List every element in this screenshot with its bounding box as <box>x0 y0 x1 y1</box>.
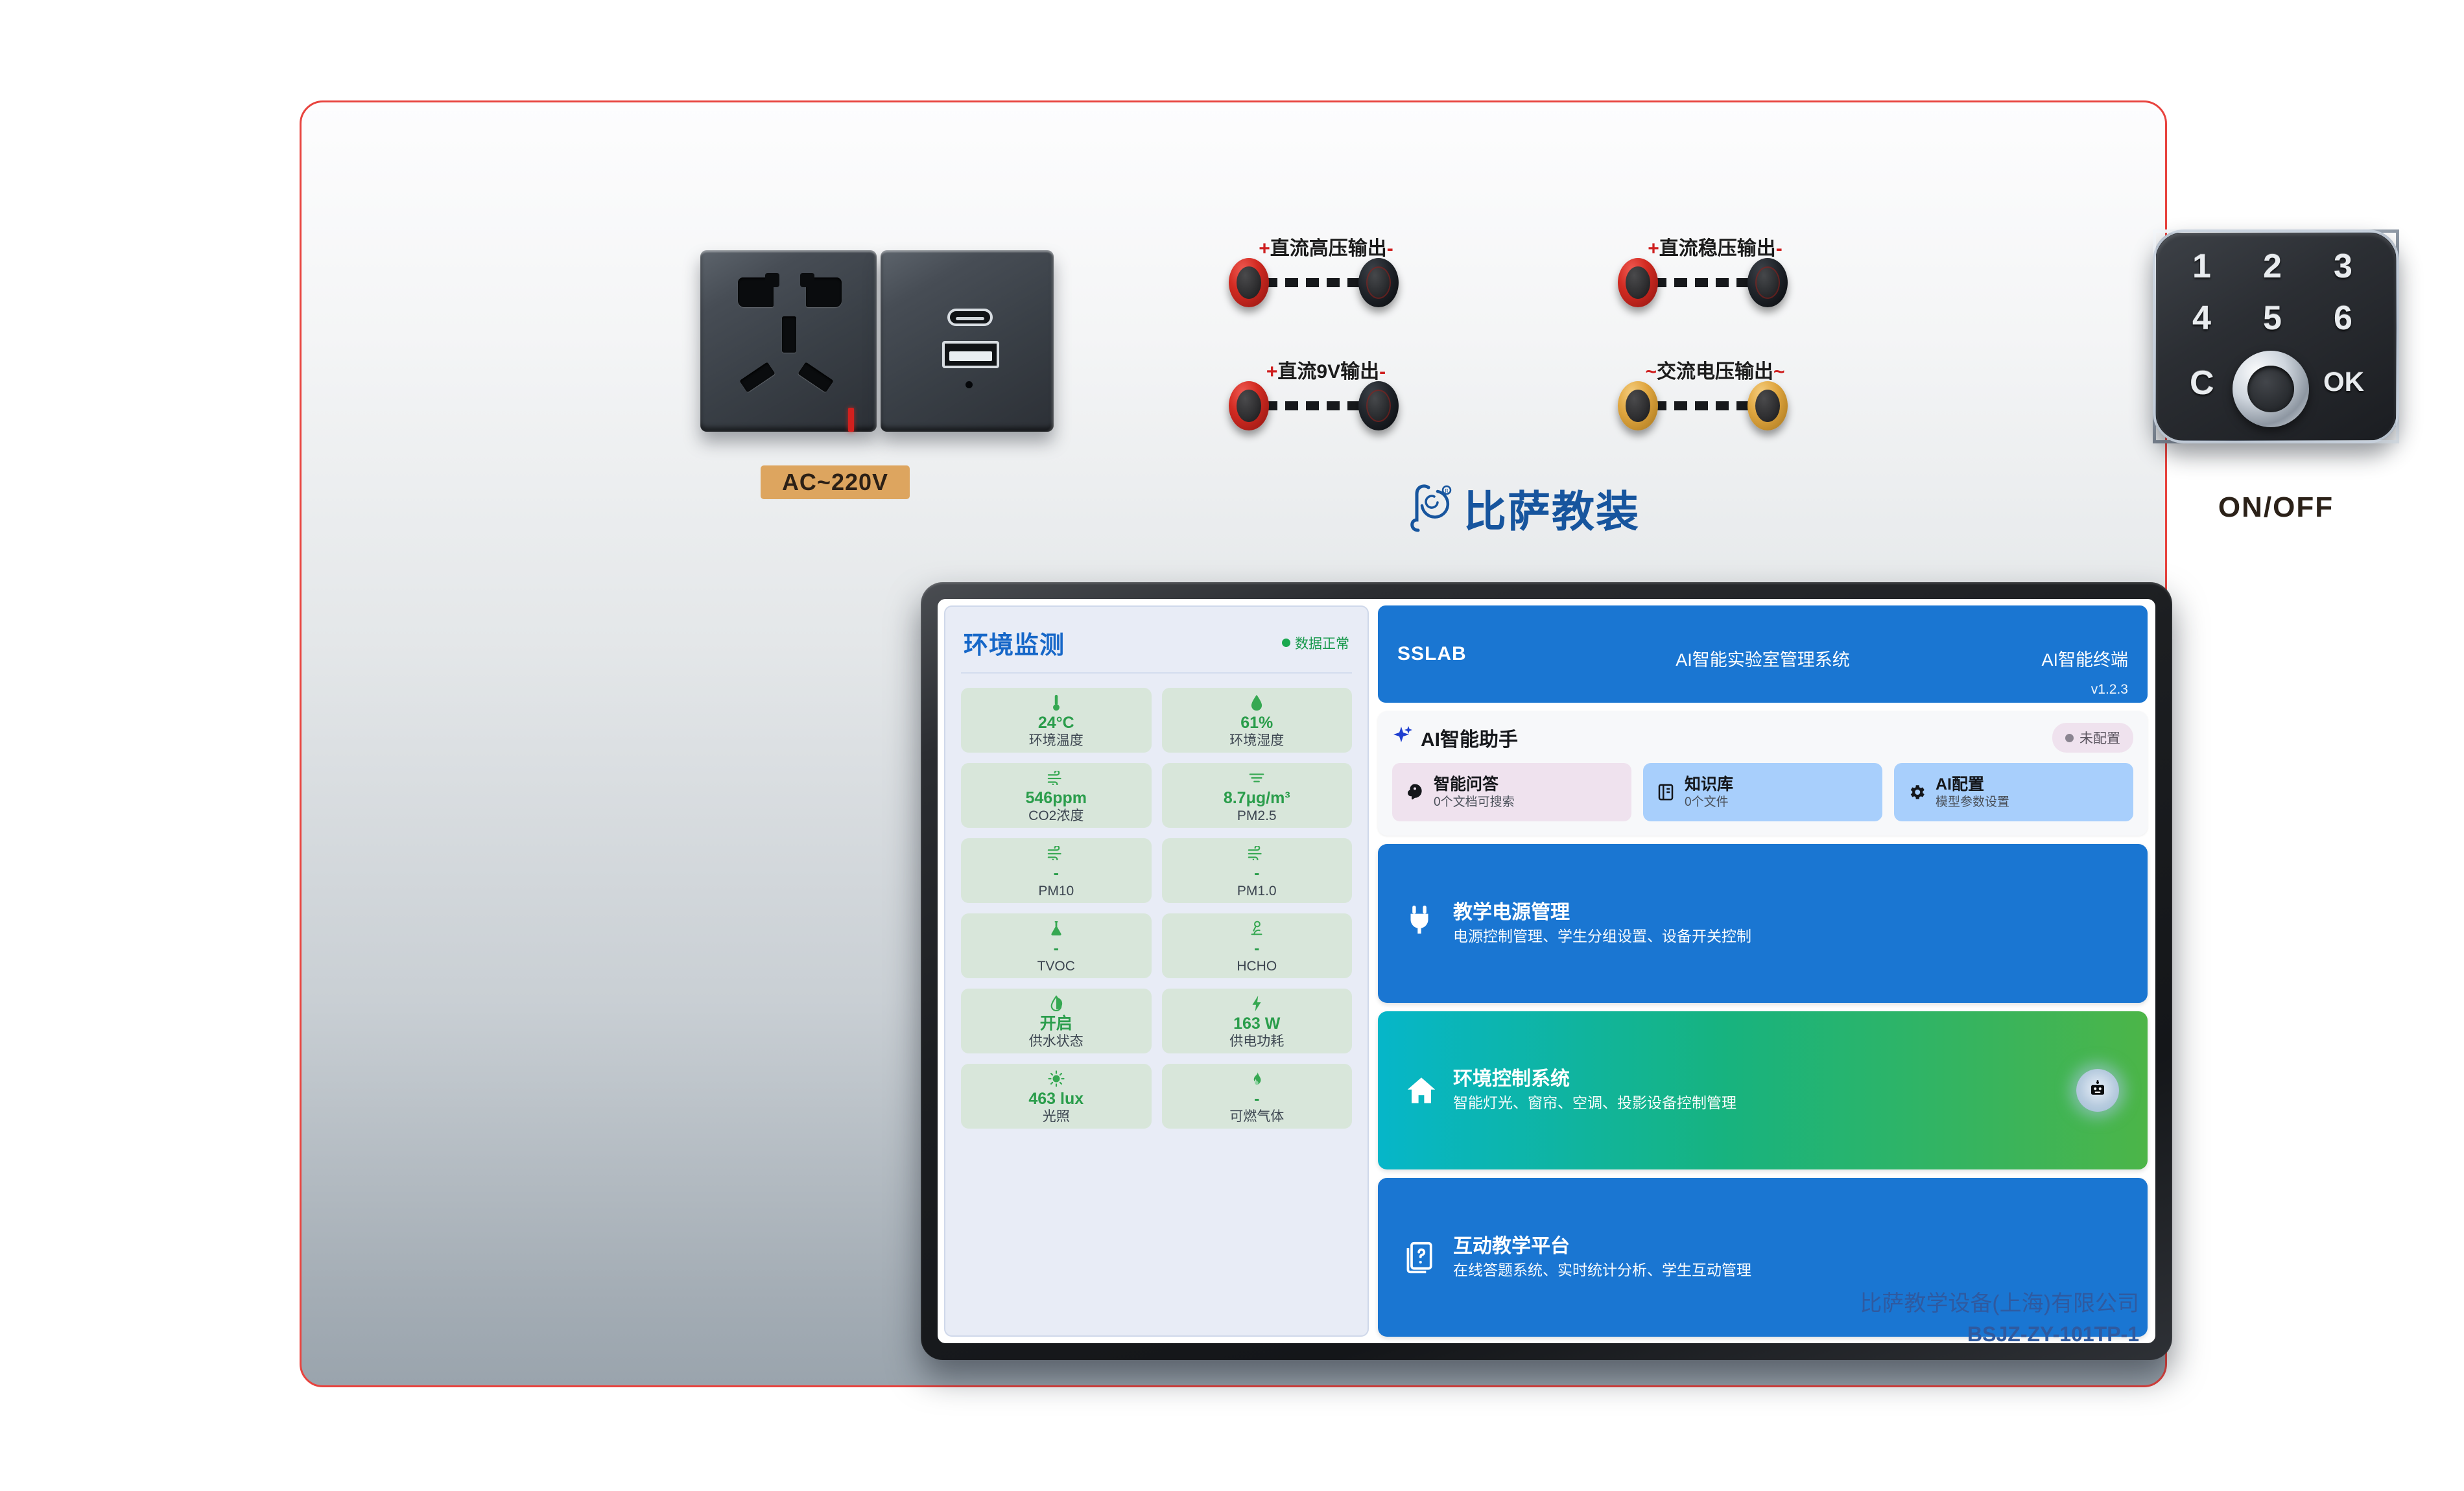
flame-icon <box>1250 1069 1264 1088</box>
quiz-icon <box>1405 1241 1447 1274</box>
tablet-screen: 环境监测 数据正常 24°C环境温度61%环境湿度546ppmCO2浓度8.7μ… <box>938 599 2155 1343</box>
usb-c-port-icon <box>947 309 993 326</box>
book-icon <box>1656 782 1676 802</box>
terminal-label: +直流9V输出- <box>1266 355 1386 384</box>
robot-icon <box>2088 1079 2107 1102</box>
sensor-card[interactable]: 546ppmCO2浓度 <box>961 763 1152 828</box>
ai-config-status-text: 未配置 <box>2079 728 2120 747</box>
usb-a-port-icon <box>942 341 999 368</box>
socket-power-led <box>848 408 854 432</box>
sensor-card[interactable]: 8.7μg/m³PM2.5 <box>1162 763 1353 828</box>
ai-tile-sub: 0个文档可搜索 <box>1434 795 1515 810</box>
terminal-link-bar <box>1653 278 1754 287</box>
sensor-label: 环境湿度 <box>1229 734 1284 747</box>
socket-slot-right <box>806 277 842 307</box>
ai-assistant-title: AI智能助手 <box>1421 723 1518 752</box>
sensor-value: 163 W <box>1233 1016 1280 1032</box>
keypad-key-5[interactable]: 5 <box>2263 299 2282 338</box>
sensor-card[interactable]: -HCHO <box>1162 913 1353 978</box>
sensor-grid: 24°C环境温度61%环境湿度546ppmCO2浓度8.7μg/m³PM2.5-… <box>961 674 1352 1129</box>
ai-tile-ai-config[interactable]: AI配置 模型参数设置 <box>1894 763 2133 821</box>
ai-assistant-header: AI智能助手 未配置 <box>1392 723 2133 753</box>
svg-text:R: R <box>1445 488 1449 494</box>
sensor-label: 光照 <box>1043 1110 1070 1123</box>
status-dot-icon <box>1282 639 1290 647</box>
ai-tile-knowledge-base[interactable]: 知识库 0个文件 <box>1643 763 1882 821</box>
footer-company: 比萨教学设备(上海)有限公司 <box>1860 1286 2139 1317</box>
sensor-value: 463 lux <box>1028 1091 1084 1107</box>
droplet-icon <box>1250 693 1264 712</box>
module-sub: 智能灯光、窗帘、空调、投影设备控制管理 <box>1453 1092 1736 1114</box>
keypad-key-1[interactable]: 1 <box>2192 247 2211 286</box>
sensor-value: - <box>1054 865 1059 882</box>
sensor-card[interactable]: 61%环境湿度 <box>1162 688 1353 753</box>
keypad-key-3[interactable]: 3 <box>2334 247 2352 286</box>
app-version: v1.2.3 <box>2091 682 2128 698</box>
sensor-card[interactable]: 463 lux光照 <box>961 1064 1152 1129</box>
ai-tile-title: AI配置 <box>1936 775 2009 795</box>
pisa-logo-icon: R <box>1404 482 1454 534</box>
wind-icon <box>1047 768 1065 788</box>
sensor-card[interactable]: -PM10 <box>961 838 1152 903</box>
sensor-value: 8.7μg/m³ <box>1224 790 1290 806</box>
keypad-key-ok[interactable]: OK <box>2323 366 2364 397</box>
ai-tile-sub: 模型参数设置 <box>1936 795 2009 810</box>
sensor-card[interactable]: -TVOC <box>961 913 1152 978</box>
ai-tile-title: 知识库 <box>1685 775 1733 795</box>
sensor-card[interactable]: -PM1.0 <box>1162 838 1353 903</box>
sensor-value: 546ppm <box>1026 790 1087 806</box>
sensor-card[interactable]: -可燃气体 <box>1162 1064 1353 1129</box>
usb-indicator-led <box>965 381 973 388</box>
socket-slot-diag-right <box>798 362 833 392</box>
sensor-value: - <box>1254 865 1259 882</box>
sensor-label: PM1.0 <box>1237 884 1277 898</box>
microscope-icon <box>1249 919 1264 938</box>
sensor-value: 开启 <box>1040 1016 1072 1032</box>
sensor-card[interactable]: 24°C环境温度 <box>961 688 1152 753</box>
sensor-label: 可燃气体 <box>1229 1110 1284 1123</box>
sensor-value: - <box>1054 941 1059 957</box>
sensor-card[interactable]: 163 W供电功耗 <box>1162 989 1353 1053</box>
keypad-key-4[interactable]: 4 <box>2192 299 2211 338</box>
flask-icon <box>1049 919 1063 938</box>
terminal-label: +直流稳压输出- <box>1648 232 1783 261</box>
environment-status-text: 数据正常 <box>1295 633 1349 653</box>
thermometer-icon <box>1049 693 1063 712</box>
environment-status-badge: 数据正常 <box>1282 633 1349 653</box>
sensor-value: 61% <box>1240 715 1273 731</box>
bolt-icon <box>1250 994 1263 1013</box>
ai-tile-sub: 0个文件 <box>1685 795 1733 810</box>
terminal-link-bar <box>1264 401 1365 410</box>
jack-negative[interactable] <box>1747 258 1788 307</box>
keypad-key-clear[interactable]: C <box>2190 364 2214 403</box>
plug-icon <box>1405 906 1447 941</box>
keypad-key-6[interactable]: 6 <box>2334 299 2352 338</box>
brand-logo-text: 比萨教装 <box>1463 477 1640 539</box>
module-sub: 电源控制管理、学生分组设置、设备开关控制 <box>1453 925 1751 948</box>
app-system-title: AI智能实验室管理系统 <box>1676 646 1850 671</box>
terminal-link-bar <box>1264 278 1365 287</box>
ai-assistant-card: AI智能助手 未配置 智能问答 <box>1378 711 2148 836</box>
socket-slot-diag-left <box>739 362 775 392</box>
footer: 比萨教学设备(上海)有限公司 BSJZ-ZY-101TP-1 <box>1860 1286 2139 1346</box>
brand-logo: R 比萨教装 <box>1404 477 1640 539</box>
sensor-label: CO2浓度 <box>1028 809 1084 823</box>
app-main-panel: SSLAB AI智能实验室管理系统 AI智能终端 v1.2.3 AI智能助手 <box>1369 599 2155 1343</box>
jack-positive[interactable] <box>1229 258 1269 307</box>
terminal-label: +直流高压输出- <box>1259 232 1393 261</box>
socket-slot-center <box>782 316 796 353</box>
sensor-value: 24°C <box>1038 715 1074 731</box>
module-card-environment-control[interactable]: 环境控制系统 智能灯光、窗帘、空调、投影设备控制管理 <box>1378 1011 2148 1170</box>
onoff-label: ON/OFF <box>2153 491 2399 524</box>
sensor-value: - <box>1254 1091 1259 1107</box>
module-card-power-management[interactable]: 教学电源管理 电源控制管理、学生分组设置、设备开关控制 <box>1378 844 2148 1003</box>
keypad-dial-knob[interactable] <box>2233 351 2309 427</box>
socket-slot-left <box>738 277 774 307</box>
jack-negative[interactable] <box>1358 381 1399 430</box>
terminal-label: ~交流电压输出~ <box>1645 355 1784 384</box>
ai-tiles: 智能问答 0个文档可搜索 知识库 0个文件 <box>1392 763 2133 821</box>
ai-config-status-badge: 未配置 <box>2052 723 2133 753</box>
sun-icon <box>1048 1069 1065 1088</box>
terminal-link-bar <box>1653 401 1754 410</box>
home-icon <box>1405 1074 1447 1107</box>
keypad[interactable]: 1 2 3 4 5 6 C OK <box>2153 229 2399 443</box>
sensor-label: PM2.5 <box>1237 809 1277 823</box>
app-header: SSLAB AI智能实验室管理系统 AI智能终端 v1.2.3 <box>1378 605 2148 703</box>
brain-icon <box>1405 782 1425 802</box>
power-socket-group <box>700 250 1054 432</box>
environment-title: 环境监测 <box>964 625 1065 661</box>
equipment-panel: AC~220V +直流高压输出- +直流稳压输出- +直流9V输出- ~交流电压… <box>300 100 2167 1387</box>
app-brand: SSLAB <box>1397 643 1467 665</box>
sensor-label: 环境温度 <box>1029 734 1084 747</box>
sensor-label: PM10 <box>1038 884 1074 898</box>
usb-socket[interactable] <box>881 250 1054 432</box>
app-terminal-name: AI智能终端 <box>2041 646 2128 671</box>
module-title: 互动教学平台 <box>1453 1234 1751 1259</box>
jack-positive[interactable] <box>1618 258 1658 307</box>
jack-ac-left[interactable] <box>1618 381 1658 430</box>
ai-assistant-title-group: AI智能助手 <box>1392 723 1518 752</box>
water-drop-icon <box>1049 994 1063 1013</box>
module-title: 环境控制系统 <box>1453 1066 1736 1092</box>
keypad-key-2[interactable]: 2 <box>2263 247 2282 286</box>
sensor-label: 供电功耗 <box>1229 1035 1284 1048</box>
status-dot-icon <box>2065 734 2074 742</box>
module-sub: 在线答题系统、实时统计分析、学生互动管理 <box>1453 1259 1751 1282</box>
sensor-label: 供水状态 <box>1029 1035 1084 1048</box>
footer-model: BSJZ-ZY-101TP-1 <box>1860 1322 2139 1346</box>
module-title: 教学电源管理 <box>1453 900 1751 925</box>
environment-monitor-panel: 环境监测 数据正常 24°C环境温度61%环境湿度546ppmCO2浓度8.7μ… <box>944 605 1369 1337</box>
ai-tile-title: 智能问答 <box>1434 775 1515 795</box>
ai-tile-smart-qa[interactable]: 智能问答 0个文档可搜索 <box>1392 763 1631 821</box>
filter-icon <box>1248 768 1265 788</box>
jack-negative[interactable] <box>1358 258 1399 307</box>
wind-icon <box>1047 843 1065 863</box>
sensor-value: - <box>1254 941 1259 957</box>
wind-icon <box>1248 843 1266 863</box>
sensor-label: TVOC <box>1037 959 1075 973</box>
sensor-card[interactable]: 开启供水状态 <box>961 989 1152 1053</box>
jack-ac-right[interactable] <box>1747 381 1788 430</box>
gear-icon <box>1907 782 1926 802</box>
sparkle-icon <box>1392 725 1413 751</box>
ai-robot-fab-button[interactable] <box>2076 1069 2119 1112</box>
tablet-device: 环境监测 数据正常 24°C环境温度61%环境湿度546ppmCO2浓度8.7μ… <box>921 582 2172 1360</box>
jack-positive[interactable] <box>1229 381 1269 430</box>
environment-header: 环境监测 数据正常 <box>961 607 1352 674</box>
sensor-label: HCHO <box>1237 959 1277 973</box>
ac-voltage-label: AC~220V <box>761 465 910 499</box>
ac-socket[interactable] <box>700 250 877 432</box>
